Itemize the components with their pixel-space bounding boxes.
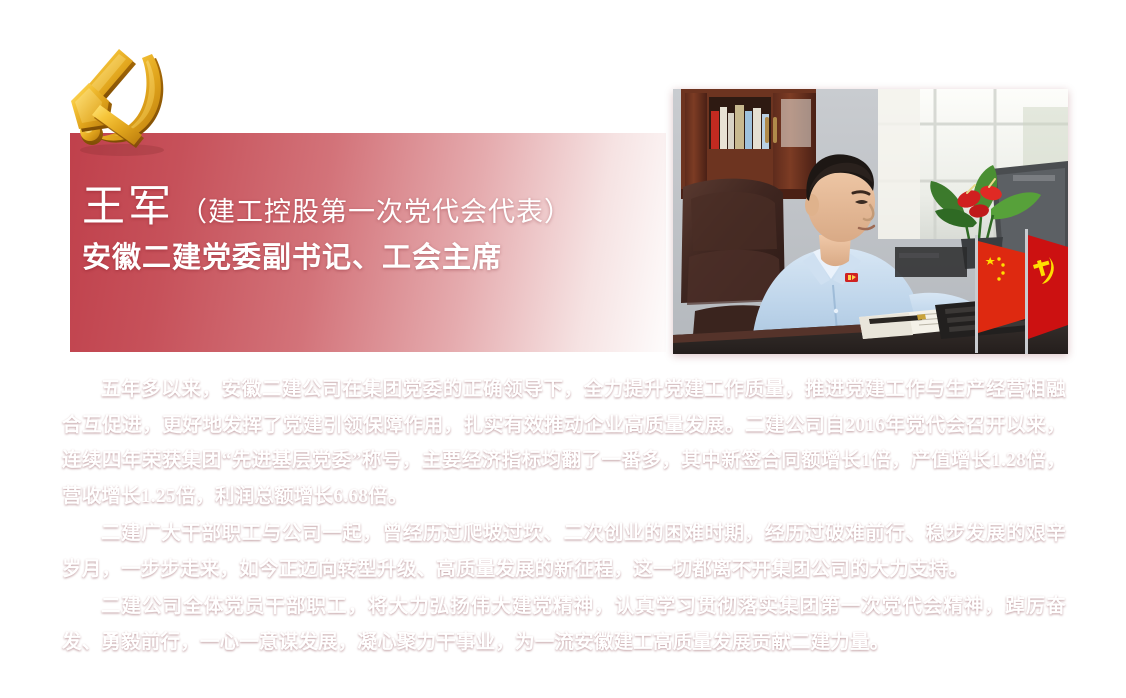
article-paragraph: 二建公司全体党员干部职工，将大力弘扬伟大建党精神，认真学习贯彻落实集团第一次党代…: [62, 589, 1066, 660]
poster-root: 王军（建工控股第一次党代会代表） 安徽二建党委副书记、工会主席: [0, 0, 1126, 698]
article-body: 五年多以来，安徽二建公司在集团党委的正确领导下，全力提升党建工作质量，推进党建工…: [62, 372, 1066, 662]
position-title: 安徽二建党委副书记、工会主席: [82, 243, 572, 275]
delegate-role-label: （建工控股第一次党代会代表）: [174, 197, 572, 227]
name-and-role-line: 王军（建工控股第一次党代会代表）: [82, 186, 572, 229]
cpc-hammer-sickle-emblem-icon: [56, 38, 184, 156]
article-paragraph: 五年多以来，安徽二建公司在集团党委的正确领导下，全力提升党建工作质量，推进党建工…: [62, 372, 1066, 514]
article-paragraph: 二建广大干部职工与公司一起，曾经历过爬坡过坎、二次创业的困难时期，经历过破难前行…: [62, 516, 1066, 587]
portrait-photo: [673, 89, 1068, 354]
header-title-group: 王军（建工控股第一次党代会代表） 安徽二建党委副书记、工会主席: [82, 186, 572, 275]
page-title: 王军: [82, 183, 174, 231]
